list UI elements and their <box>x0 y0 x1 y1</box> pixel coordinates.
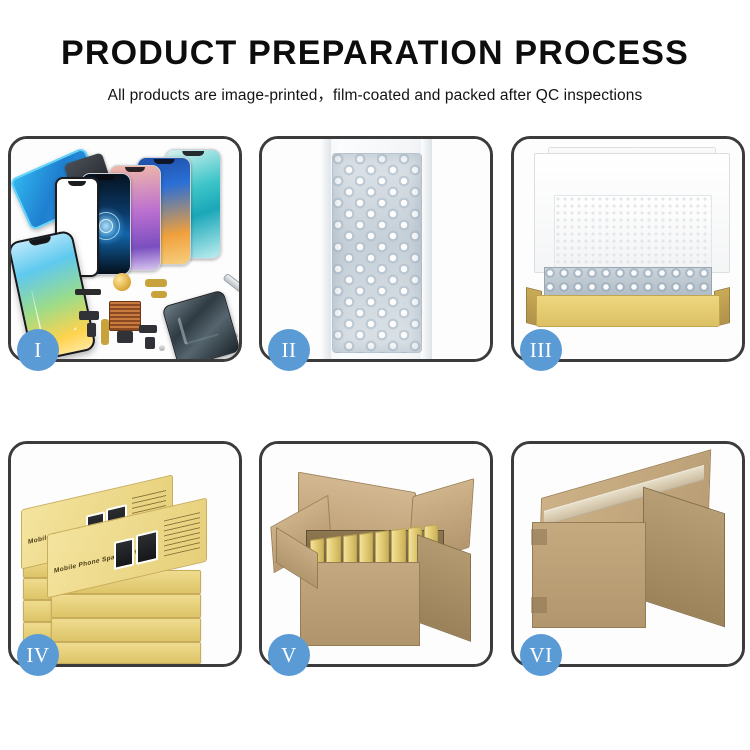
part-camera-module <box>117 331 133 343</box>
phone-back-housing <box>161 289 239 359</box>
sealed-carton-front <box>532 522 646 628</box>
step-badge-ii: II <box>268 329 310 371</box>
part-screw-1 <box>159 345 165 351</box>
step-badge-iii: III <box>520 329 562 371</box>
bubble-wrap-texture <box>332 153 422 353</box>
part-connector-strip <box>75 289 101 295</box>
step-badge-iv: IV <box>17 634 59 676</box>
step-panel-iii: III <box>511 136 745 362</box>
sealed-carton-right-side <box>643 487 725 628</box>
bubble-wrap-pouch <box>320 139 432 359</box>
stacked-box-f2 <box>51 642 201 664</box>
step-badge-vi: VI <box>520 634 562 676</box>
foam-padding-sheet <box>554 195 712 269</box>
step-badge-i: I <box>17 329 59 371</box>
step-image-sealed-carton <box>514 444 742 664</box>
part-copper-grid <box>109 301 141 331</box>
part-bracket-2 <box>87 323 96 337</box>
carton-right-side-panel <box>417 534 471 642</box>
step-image-box-stack: Mobile Phone Spare Parts Mobile Phone Sp… <box>11 444 239 664</box>
header: PRODUCT PREPARATION PROCESS All products… <box>0 0 750 105</box>
step-panel-v: V <box>259 441 493 667</box>
page-title: PRODUCT PREPARATION PROCESS <box>0 0 750 72</box>
spare-parts-group <box>73 267 239 359</box>
part-flex-cable-2 <box>151 291 167 298</box>
product-preparation-infographic: PRODUCT PREPARATION PROCESS All products… <box>0 0 750 750</box>
box-label-phone-rear <box>136 530 158 565</box>
stacked-box-f3 <box>51 618 201 642</box>
step-image-open-carton <box>262 444 490 664</box>
part-battery-cell <box>145 337 155 349</box>
step-image-foam-box <box>514 139 742 359</box>
step-badge-v: V <box>268 634 310 676</box>
kraft-box-front-wall <box>536 295 720 327</box>
carton-corner-tab-top <box>531 529 547 545</box>
stacked-box-f4 <box>51 594 201 618</box>
carton-corner-tab-bottom <box>531 597 547 613</box>
step-panel-vi: VI <box>511 441 745 667</box>
part-speaker-coil <box>113 273 131 291</box>
kraft-box-stack: Mobile Phone Spare Parts Mobile Phone Sp… <box>17 458 239 664</box>
step-panel-ii: II <box>259 136 493 362</box>
step-panel-i: I <box>8 136 242 362</box>
part-bracket-3 <box>139 325 157 333</box>
part-bracket-1 <box>79 311 99 320</box>
part-flex-cable-3 <box>101 319 109 345</box>
box-label-checklist-front <box>164 512 200 556</box>
box-label-phone-front <box>114 537 134 570</box>
step-panel-iv: Mobile Phone Spare Parts Mobile Phone Sp… <box>8 441 242 667</box>
step-image-parts <box>11 139 239 359</box>
process-steps-grid: I II III <box>8 136 744 682</box>
carton-front-panel <box>300 562 420 646</box>
page-subtitle: All products are image-printed，film-coat… <box>0 72 750 105</box>
step-image-bubble-wrap <box>262 139 490 359</box>
part-flex-cable-1 <box>145 279 167 287</box>
